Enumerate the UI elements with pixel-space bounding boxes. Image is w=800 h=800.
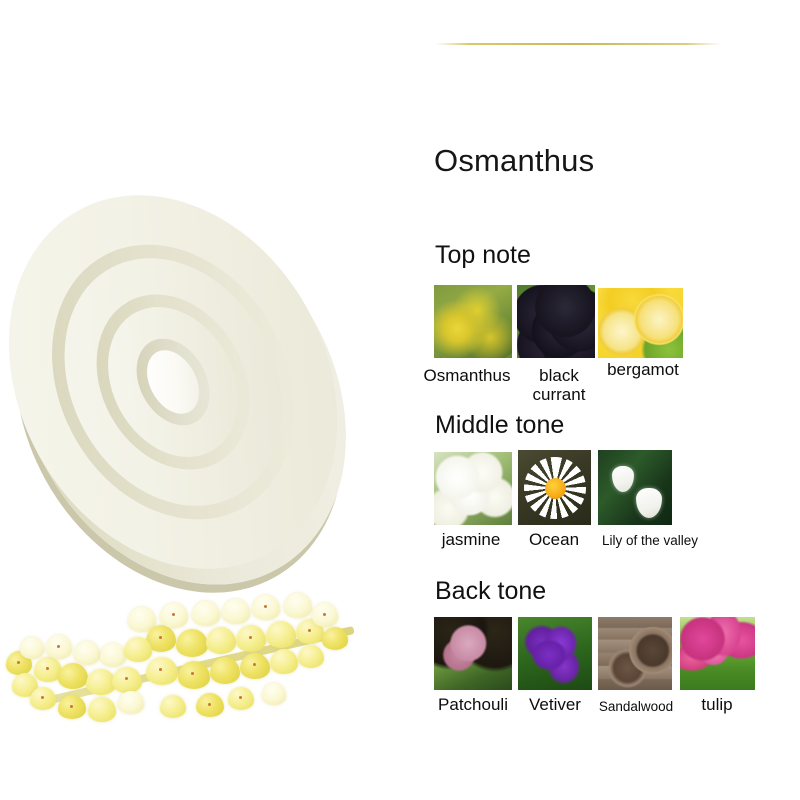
flower-petal: [252, 595, 280, 620]
flower-petal: [118, 691, 144, 714]
thumb-bergamot[interactable]: [598, 288, 683, 358]
flower-petal: [30, 687, 56, 710]
iris-flower-photo: [518, 617, 592, 690]
daisy-flower-photo: [518, 450, 591, 525]
thumb-black-currant[interactable]: [517, 285, 595, 358]
label-tulip: tulip: [684, 695, 750, 714]
sandalwood-logs-photo: [598, 617, 672, 690]
osmanthus-flower-cluster: [0, 545, 400, 775]
flower-petal: [196, 693, 224, 717]
page-title: Osmanthus: [434, 143, 594, 179]
bergamot-lemon-photo: [598, 288, 683, 358]
label-osmanthus: Osmanthus: [419, 366, 515, 385]
thumb-tulip[interactable]: [680, 617, 755, 690]
patchouli-plant-photo: [434, 617, 512, 690]
thumb-ocean[interactable]: [518, 450, 591, 525]
flower-petal: [100, 643, 126, 667]
label-bergamot: bergamot: [599, 360, 687, 379]
label-patchouli: Patchouli: [414, 695, 532, 714]
product-photo: [0, 140, 410, 800]
flower-petal: [124, 637, 152, 662]
tulip-field-photo: [680, 617, 755, 690]
flower-petal: [270, 649, 298, 674]
product-detail-page: Osmanthus: [0, 0, 800, 800]
label-ocean: Ocean: [518, 530, 590, 549]
flower-petal: [222, 599, 250, 624]
label-lily-of-the-valley: Lily of the valley: [595, 531, 705, 550]
flower-petal: [266, 621, 296, 648]
section-heading-back-tone: Back tone: [435, 577, 546, 606]
flower-petal: [240, 653, 270, 679]
flower-petal: [262, 683, 286, 705]
flower-petal: [74, 641, 100, 665]
flower-petal: [206, 627, 236, 654]
label-vetiver: Vetiver: [518, 695, 592, 714]
flower-petal: [192, 601, 220, 626]
label-sandalwood: Sandalwood: [592, 697, 680, 716]
gold-divider-rule: [435, 43, 721, 45]
thumb-sandalwood[interactable]: [598, 617, 672, 690]
thumb-osmanthus[interactable]: [434, 285, 512, 358]
section-heading-middle-tone: Middle tone: [435, 411, 564, 440]
flower-petal: [322, 627, 348, 650]
thumb-patchouli[interactable]: [434, 617, 512, 690]
flower-petal: [58, 695, 86, 719]
thumb-jasmine[interactable]: [434, 452, 512, 525]
flower-petal: [88, 697, 116, 722]
flower-petal: [160, 695, 186, 718]
flower-petal: [176, 629, 208, 657]
osmanthus-flower-photo: [434, 285, 512, 358]
flower-petal: [20, 637, 44, 659]
flower-petal: [112, 667, 142, 693]
thumb-vetiver[interactable]: [518, 617, 592, 690]
label-jasmine: jasmine: [428, 530, 514, 549]
section-heading-top-note: Top note: [435, 241, 531, 270]
flower-petal: [312, 603, 338, 627]
label-black-currant: black currant: [524, 366, 594, 404]
jasmine-flower-photo: [434, 452, 512, 525]
thumb-lily-of-the-valley[interactable]: [598, 450, 672, 525]
black-currant-photo: [517, 285, 595, 358]
flower-petal: [46, 635, 72, 659]
flower-petal: [210, 657, 240, 684]
flower-petal: [58, 663, 88, 689]
flower-petal: [284, 593, 312, 618]
lily-of-the-valley-photo: [598, 450, 672, 525]
flower-petal: [178, 661, 210, 689]
flower-petal: [228, 687, 254, 710]
flower-petal: [298, 645, 324, 668]
flower-petal: [160, 603, 188, 628]
flower-petal: [236, 625, 266, 652]
flower-petal: [146, 657, 178, 685]
